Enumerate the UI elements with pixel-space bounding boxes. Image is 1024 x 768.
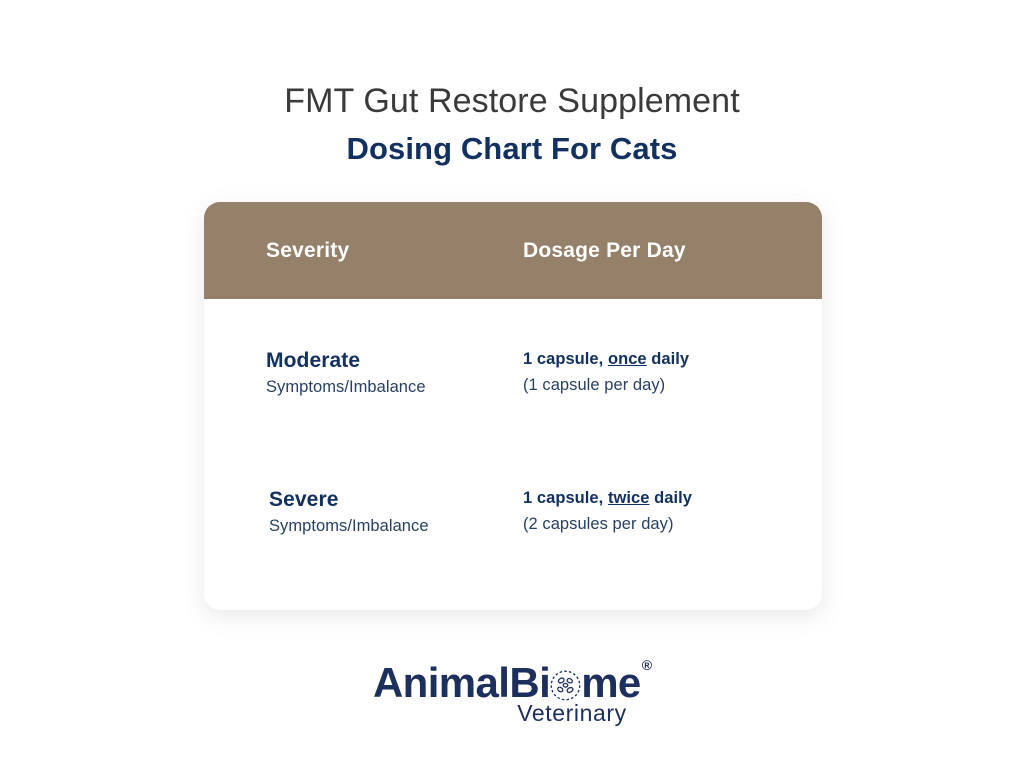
page-title-block: FMT Gut Restore Supplement Dosing Chart … xyxy=(0,82,1024,167)
page-title: FMT Gut Restore Supplement xyxy=(0,82,1024,120)
dosage-suffix: daily xyxy=(647,350,690,368)
dosage-secondary: (2 capsules per day) xyxy=(523,514,822,535)
dosage-cell-severe: 1 capsule, twice daily (2 capsules per d… xyxy=(461,488,822,535)
dosage-cell-moderate: 1 capsule, once daily (1 capsule per day… xyxy=(461,349,822,396)
dosing-chart-card: Severity Dosage Per Day Moderate Symptom… xyxy=(204,202,822,610)
page-subtitle: Dosing Chart For Cats xyxy=(0,132,1024,167)
dosage-prefix: 1 capsule, xyxy=(523,350,608,368)
severity-cell-severe: Severe Symptoms/Imbalance xyxy=(204,488,461,537)
dosage-primary: 1 capsule, once daily xyxy=(523,349,822,370)
brand-text-part1: AnimalBi xyxy=(373,659,550,706)
brand-logo: AnimalBime® Veterinary xyxy=(0,662,1024,725)
table-header-row: Severity Dosage Per Day xyxy=(204,202,822,299)
table-row: Moderate Symptoms/Imbalance 1 capsule, o… xyxy=(204,349,822,398)
brand-wordmark: AnimalBime® xyxy=(373,662,651,704)
brand-text-part2: me xyxy=(581,659,641,706)
severity-note: Symptoms/Imbalance xyxy=(269,516,461,537)
table-row: Severe Symptoms/Imbalance 1 capsule, twi… xyxy=(204,488,822,537)
severity-cell-moderate: Moderate Symptoms/Imbalance xyxy=(204,349,461,398)
registered-trademark-symbol: ® xyxy=(642,657,652,673)
dosage-primary: 1 capsule, twice daily xyxy=(523,488,822,509)
dosage-suffix: daily xyxy=(649,489,692,507)
dosage-emphasis: twice xyxy=(608,489,650,507)
table-header-cell-dosage: Dosage Per Day xyxy=(461,239,822,263)
severity-name: Severe xyxy=(269,488,461,513)
dosage-secondary: (1 capsule per day) xyxy=(523,375,822,396)
column-header-dosage-label: Dosage Per Day xyxy=(523,239,822,263)
severity-name: Moderate xyxy=(266,349,461,374)
severity-note: Symptoms/Imbalance xyxy=(266,377,461,398)
brand-tagline: Veterinary xyxy=(120,702,1024,725)
microbe-cluster-icon xyxy=(550,666,581,697)
dosage-prefix: 1 capsule, xyxy=(523,489,608,507)
table-header-cell-severity: Severity xyxy=(204,239,461,263)
dosage-emphasis: once xyxy=(608,350,647,368)
column-header-severity-label: Severity xyxy=(266,239,461,263)
table-body: Moderate Symptoms/Imbalance 1 capsule, o… xyxy=(204,349,822,537)
